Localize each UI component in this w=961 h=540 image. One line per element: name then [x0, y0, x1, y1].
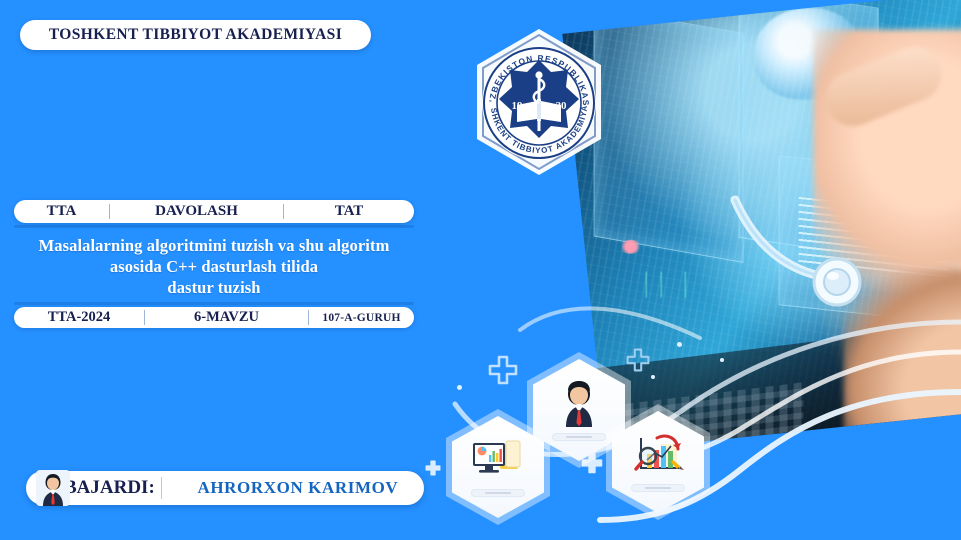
university-name-text: TOSHKENT TIBBIYOT AKADEMIYASI [49, 26, 342, 44]
info-bottom-cell-2: 107-A-GURUH [309, 312, 414, 324]
info-bottom-cell-0: TTA-2024 [14, 309, 144, 326]
info-bottom-cell-1: 6-MAVZU [145, 309, 308, 326]
author-banner: BAJARDI: AHRORXON KARIMOV [26, 471, 424, 505]
person-avatar-icon [36, 470, 70, 506]
university-name-banner: TOSHKENT TIBBIYOT AKADEMIYASI [20, 20, 371, 50]
emblem-year-right: 20 [556, 100, 568, 112]
businessman-avatar-icon [554, 379, 604, 427]
title-line-3: dastur tuzish [14, 277, 414, 298]
info-bar-bottom: TTA-2024 6-MAVZU 107-A-GURUH [14, 307, 414, 328]
spark-dot [651, 375, 655, 379]
university-emblem-icon: 19 20 O'ZBEKISTON RESPUBLIKASI TOSHKENT … [471, 27, 607, 177]
title-line-2: asosida C++ dasturlash tilida [14, 256, 414, 277]
info-top-cell-1: DAVOLASH [110, 203, 283, 220]
magnifier-bar-chart-icon [631, 432, 685, 478]
medical-cross-icon [425, 460, 441, 476]
accent-rule [14, 302, 414, 305]
spark-dot [457, 385, 462, 390]
presentation-slide: 19 20 O'ZBEKISTON RESPUBLIKASI TOSHKENT … [0, 0, 961, 540]
info-bar-top: TTA DAVOLASH TAT [14, 200, 414, 223]
monitor-analytics-icon [470, 437, 526, 483]
spark-dot [720, 358, 724, 362]
spark-dot [677, 342, 682, 347]
medical-cross-icon [488, 355, 518, 385]
title-line-1: Masalalarning algoritmini tuzish va shu … [39, 236, 390, 255]
accent-rule [14, 225, 414, 228]
divider [161, 477, 162, 499]
emblem-year-left: 19 [512, 100, 524, 112]
author-label: BAJARDI: [64, 477, 155, 499]
info-top-cell-2: TAT [284, 203, 414, 220]
page-title: Masalalarning algoritmini tuzish va shu … [14, 235, 414, 298]
author-name: AHRORXON KARIMOV [172, 478, 424, 498]
info-top-cell-0: TTA [14, 203, 109, 220]
title-block: TTA DAVOLASH TAT Masalalarning algoritmi… [14, 200, 414, 328]
